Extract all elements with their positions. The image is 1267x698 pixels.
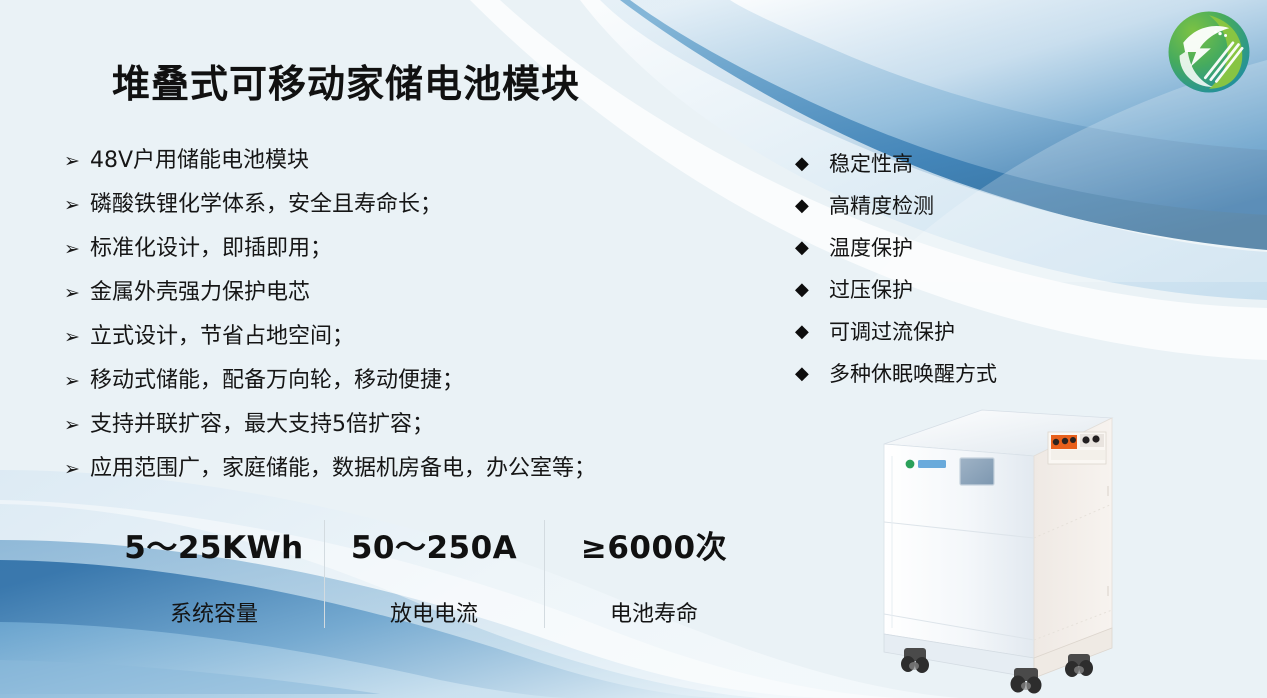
list-item: ➢ 移动式储能，配备万向轮，移动便捷； bbox=[64, 366, 684, 410]
list-item-label: 高精度检测 bbox=[829, 192, 934, 220]
diamond-bullet-icon: ◆ bbox=[795, 192, 829, 220]
list-item-label: 过压保护 bbox=[829, 276, 913, 304]
list-item-label: 支持并联扩容，最大支持5倍扩容； bbox=[90, 410, 434, 440]
list-item-label: 应用范围广，家庭储能，数据机房备电，办公室等； bbox=[90, 454, 596, 484]
list-item: ➢ 金属外壳强力保护电芯 bbox=[64, 278, 684, 322]
company-leaf-logo bbox=[1163, 6, 1255, 98]
arrow-bullet-icon: ➢ bbox=[64, 410, 90, 440]
arrow-bullet-icon: ➢ bbox=[64, 322, 90, 352]
arrow-bullet-icon: ➢ bbox=[64, 190, 90, 220]
spec-capacity: 5〜25KWh 系统容量 bbox=[104, 512, 324, 622]
product-photo-battery-cabinet bbox=[862, 396, 1132, 696]
arrow-bullet-icon: ➢ bbox=[64, 146, 90, 176]
spec-highlights: 5〜25KWh 系统容量 50〜250A 放电电流 ≥6000次 电池寿命 bbox=[104, 512, 764, 622]
list-item: ➢ 磷酸铁锂化学体系，安全且寿命长； bbox=[64, 190, 684, 234]
list-item-label: 标准化设计，即插即用； bbox=[90, 234, 332, 264]
list-item: ➢ 立式设计，节省占地空间； bbox=[64, 322, 684, 366]
spec-value: 5〜25KWh bbox=[104, 522, 324, 567]
list-item-label: 稳定性高 bbox=[829, 150, 913, 178]
page-title: 堆叠式可移动家储电池模块 bbox=[112, 53, 580, 108]
feature-list-left: ➢ 48V户用储能电池模块 ➢ 磷酸铁锂化学体系，安全且寿命长； ➢ 标准化设计… bbox=[64, 146, 684, 498]
list-item-label: 可调过流保护 bbox=[829, 318, 955, 346]
list-item-label: 移动式储能，配备万向轮，移动便捷； bbox=[90, 366, 464, 396]
diamond-bullet-icon: ◆ bbox=[795, 150, 829, 178]
spec-cycle-life: ≥6000次 电池寿命 bbox=[544, 512, 764, 622]
spec-label: 系统容量 bbox=[104, 596, 324, 628]
diamond-bullet-icon: ◆ bbox=[795, 276, 829, 304]
arrow-bullet-icon: ➢ bbox=[64, 278, 90, 308]
list-item-label: 48V户用储能电池模块 bbox=[90, 146, 309, 176]
spec-label: 放电电流 bbox=[324, 596, 544, 628]
list-item-label: 多种休眠唤醒方式 bbox=[829, 360, 997, 388]
diamond-bullet-icon: ◆ bbox=[795, 234, 829, 262]
list-item: ◆ 稳定性高 bbox=[795, 150, 1095, 192]
diamond-bullet-icon: ◆ bbox=[795, 318, 829, 346]
list-item-label: 立式设计，节省占地空间； bbox=[90, 322, 354, 352]
arrow-bullet-icon: ➢ bbox=[64, 366, 90, 396]
arrow-bullet-icon: ➢ bbox=[64, 454, 90, 484]
spec-value: 50〜250A bbox=[324, 522, 544, 567]
slide-root: 堆叠式可移动家储电池模块 ➢ 48V户用储能电池模块 ➢ 磷酸铁锂化学体系，安全… bbox=[0, 0, 1267, 698]
list-item: ◆ 高精度检测 bbox=[795, 192, 1095, 234]
spec-label: 电池寿命 bbox=[544, 596, 764, 628]
list-item: ◆ 过压保护 bbox=[795, 276, 1095, 318]
spec-value: ≥6000次 bbox=[544, 522, 764, 567]
list-item: ➢ 应用范围广，家庭储能，数据机房备电，办公室等； bbox=[64, 454, 684, 498]
spec-current: 50〜250A 放电电流 bbox=[324, 512, 544, 622]
list-item: ➢ 48V户用储能电池模块 bbox=[64, 146, 684, 190]
feature-list-right: ◆ 稳定性高 ◆ 高精度检测 ◆ 温度保护 ◆ 过压保护 ◆ 可调过流保护 ◆ … bbox=[795, 150, 1095, 402]
list-item: ➢ 支持并联扩容，最大支持5倍扩容； bbox=[64, 410, 684, 454]
arrow-bullet-icon: ➢ bbox=[64, 234, 90, 264]
list-item: ◆ 可调过流保护 bbox=[795, 318, 1095, 360]
list-item-label: 磷酸铁锂化学体系，安全且寿命长； bbox=[90, 190, 442, 220]
list-item-label: 金属外壳强力保护电芯 bbox=[90, 278, 310, 308]
list-item-label: 温度保护 bbox=[829, 234, 913, 262]
list-item: ➢ 标准化设计，即插即用； bbox=[64, 234, 684, 278]
list-item: ◆ 温度保护 bbox=[795, 234, 1095, 276]
diamond-bullet-icon: ◆ bbox=[795, 360, 829, 388]
